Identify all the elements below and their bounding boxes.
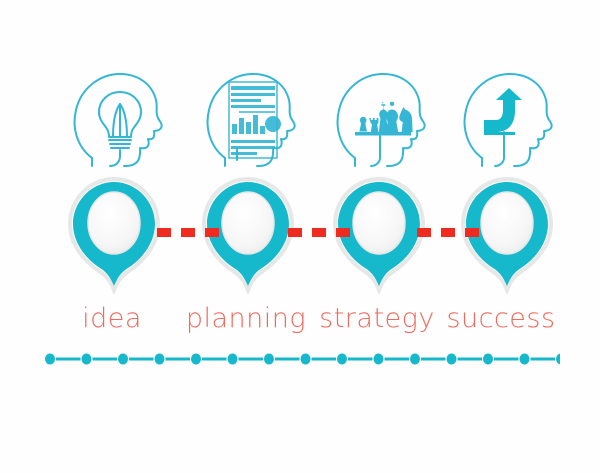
rail-dot [374, 354, 384, 365]
connector-idea-planning [157, 228, 219, 237]
rail-dot [191, 354, 201, 365]
head-chess-icon [325, 62, 437, 170]
dash-segment [336, 228, 350, 237]
rail-dot [228, 354, 238, 365]
dash-segment [157, 228, 171, 237]
rail-dot [45, 354, 55, 365]
rail-dot [82, 354, 92, 365]
rail-dot [483, 354, 493, 365]
rail-dot [118, 354, 128, 365]
connector-planning-strategy [288, 228, 350, 237]
dash-segment [205, 228, 219, 237]
dash-segment [288, 228, 302, 237]
infographic-canvas: idea planning strategy success [0, 0, 600, 473]
rail-dot [301, 354, 311, 365]
rail-dot [410, 354, 420, 365]
head-growth-arrow-icon [452, 62, 564, 170]
dash-segment [312, 228, 326, 237]
dash-segment [441, 228, 455, 237]
rail-dot [520, 354, 530, 365]
rail-dot [447, 354, 457, 365]
rail-dot [155, 354, 165, 365]
dash-segment [181, 228, 195, 237]
timeline-dot-rail [40, 350, 560, 368]
connector-strategy-success [417, 228, 479, 237]
step-label-success: success [421, 303, 581, 334]
dash-segment [417, 228, 431, 237]
pin-marker-idea[interactable] [66, 176, 162, 294]
head-document-chart-icon [195, 62, 307, 170]
rail-dot [556, 354, 560, 365]
rail-dot [264, 354, 274, 365]
rail-dot [337, 354, 347, 365]
head-lightbulb-icon [62, 62, 174, 170]
dash-segment [465, 228, 479, 237]
